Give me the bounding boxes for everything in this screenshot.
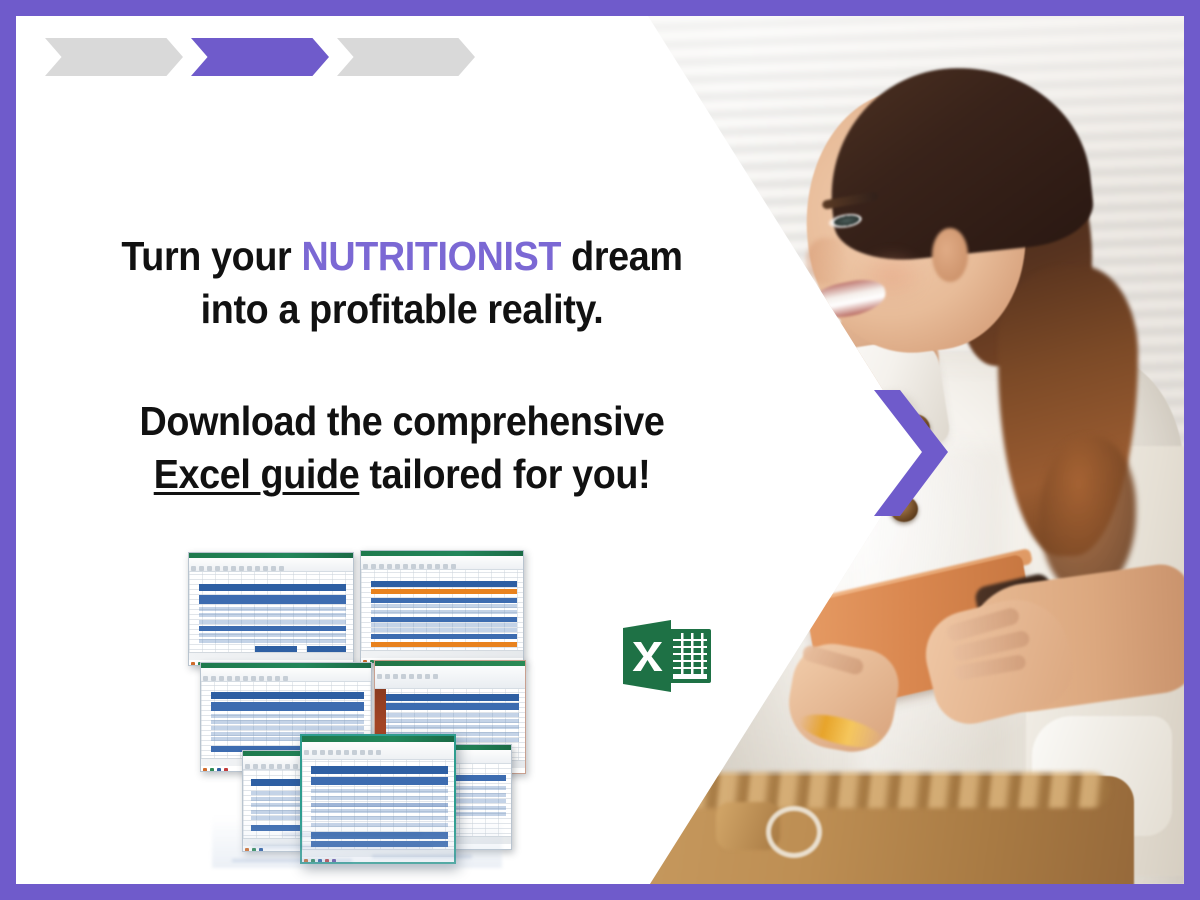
copy-block: Turn your NUTRITIONIST dream into a prof… — [16, 230, 788, 501]
belt-ring — [766, 806, 822, 858]
excel-templates-collage — [184, 544, 514, 864]
nose — [806, 238, 844, 284]
headline-part-1: Turn your — [121, 233, 301, 279]
wooden-button — [900, 414, 930, 442]
progress-step-3[interactable] — [337, 38, 475, 76]
progress-step-1[interactable] — [45, 38, 183, 76]
wooden-button — [890, 496, 918, 522]
headline: Turn your NUTRITIONIST dream into a prof… — [47, 230, 757, 337]
spreadsheet-thumbnail[interactable] — [360, 550, 524, 664]
ear — [932, 228, 968, 282]
progress-step-2[interactable] — [191, 38, 329, 76]
poster-root: Turn your NUTRITIONIST dream into a prof… — [0, 0, 1200, 900]
progress-steps — [45, 38, 475, 76]
spreadsheet-thumbnail[interactable] — [188, 552, 354, 666]
paperbag-waist — [630, 772, 1110, 808]
headline-line-2: into a profitable reality. — [201, 286, 604, 332]
subheadline-line-1: Download the comprehensive — [140, 398, 665, 444]
excel-logo — [619, 618, 715, 694]
headline-accent-word: NUTRITIONIST — [301, 233, 561, 279]
poster-canvas: Turn your NUTRITIONIST dream into a prof… — [16, 16, 1184, 884]
headline-part-3: dream — [561, 233, 682, 279]
collage-reflection — [212, 806, 502, 868]
subheadline-line-2-rest: tailored for you! — [359, 451, 650, 497]
excel-guide-link[interactable]: Excel guide — [154, 451, 360, 497]
collar-shadow — [795, 389, 924, 459]
subheadline: Download the comprehensive Excel guide t… — [47, 395, 757, 502]
